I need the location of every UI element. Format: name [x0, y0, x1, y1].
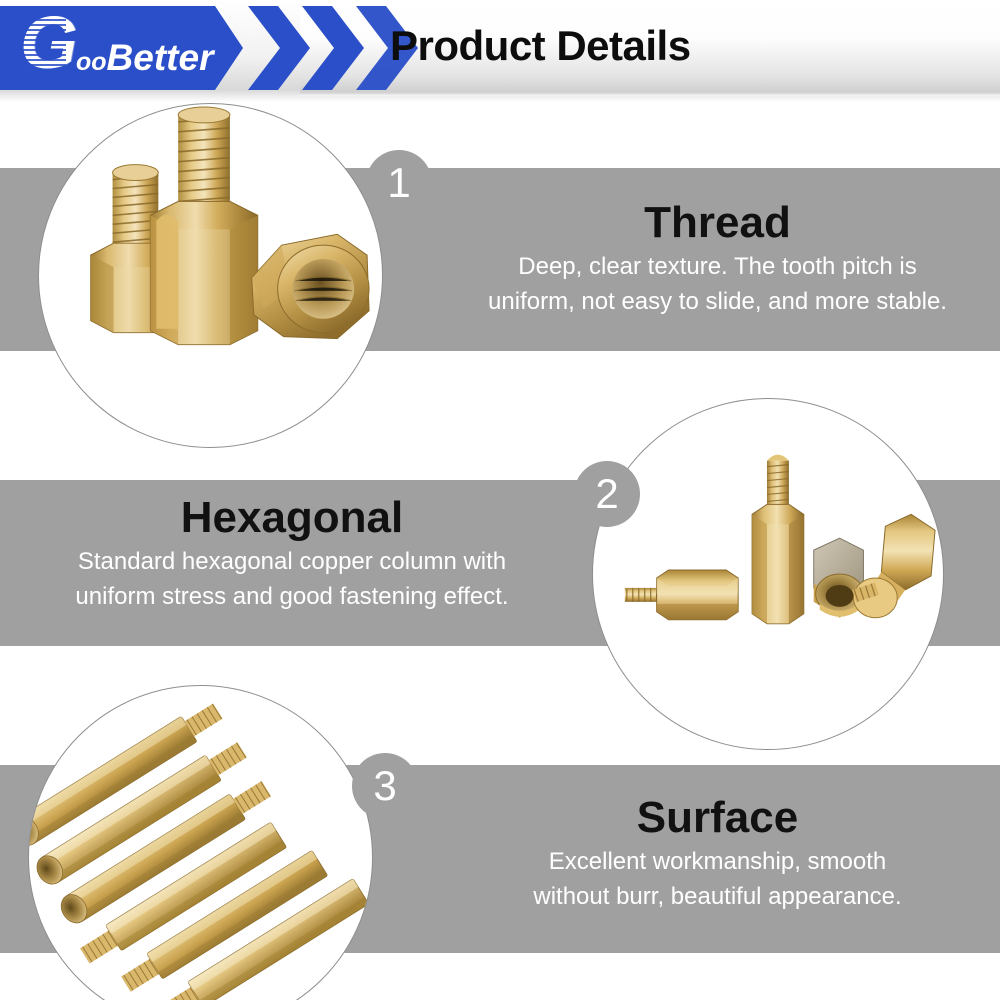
product-photo-thread: [38, 103, 383, 448]
header-banner: G ooBetter Product Details: [0, 0, 1000, 102]
product-details-infographic: G ooBetter Product Details: [0, 0, 1000, 1000]
standoff-horizontal: [625, 570, 738, 620]
feature-badge-1: 1: [366, 150, 432, 216]
product-photo-surface: [28, 685, 373, 1000]
feature-desc-2-line1: Standard hexagonal copper column with: [12, 545, 572, 580]
feature-title-3: Surface: [440, 795, 995, 841]
feature-badge-3: 3: [352, 753, 418, 819]
feature-text-2: Hexagonal Standard hexagonal copper colu…: [12, 495, 572, 615]
logo-wordmark-oo: oo: [76, 48, 107, 76]
standoff-vertical: [752, 455, 804, 624]
logo-letter-g: G: [20, 6, 76, 80]
page-title: Product Details: [390, 22, 691, 70]
logo-wordmark: ooBetter: [76, 38, 213, 82]
standoff-angled: [852, 514, 935, 617]
feature-badge-2: 2: [574, 461, 640, 527]
logo-lettering: G ooBetter: [14, 8, 229, 82]
feature-desc-1-line1: Deep, clear texture. The tooth pitch is: [440, 250, 995, 285]
chevron-arrow-icon-1: [248, 6, 310, 90]
standoff-tall: [150, 107, 257, 345]
feature-desc-3-line1: Excellent workmanship, smooth: [440, 845, 995, 880]
standoff-row: [29, 686, 369, 1000]
hex-nut: [252, 234, 369, 338]
feature-desc-3-line2: without burr, beautiful appearance.: [440, 880, 995, 915]
feature-title-2: Hexagonal: [12, 495, 572, 541]
feature-title-1: Thread: [440, 200, 995, 246]
chevron-arrow-icon-2: [302, 6, 364, 90]
logo-wordmark-better: Better: [107, 37, 214, 78]
feature-text-3: Surface Excellent workmanship, smooth wi…: [440, 795, 995, 915]
feature-desc-2-line2: uniform stress and good fastening effect…: [12, 580, 572, 615]
product-photo-hexagonal: [592, 398, 944, 750]
feature-text-1: Thread Deep, clear texture. The tooth pi…: [440, 200, 995, 320]
feature-desc-1-line2: uniform, not easy to slide, and more sta…: [440, 285, 995, 320]
brand-logo: G ooBetter: [0, 0, 360, 96]
